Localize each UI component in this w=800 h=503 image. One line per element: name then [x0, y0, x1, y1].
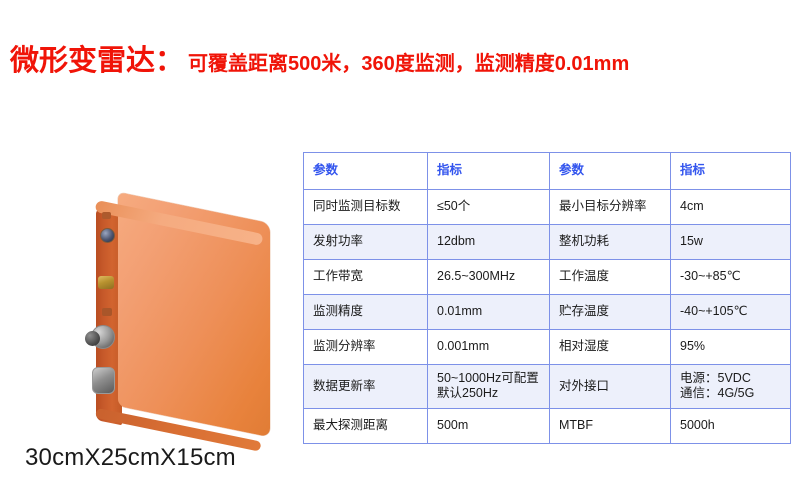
table-cell: 相对湿度: [550, 330, 671, 365]
table-header-row: 参数 指标 参数 指标: [304, 153, 791, 190]
device-mount-tab-top: [102, 212, 111, 219]
table-cell: -40~+105℃: [671, 295, 791, 330]
table-cell: 26.5~300MHz: [428, 260, 550, 295]
table-row: 发射功率12dbm整机功耗15w: [304, 225, 791, 260]
table-cell: 5000h: [671, 408, 791, 443]
table-cell: 电源：5VDC 通信：4G/5G: [671, 365, 791, 409]
comm-connector-icon: [92, 367, 115, 394]
gold-connector-icon: [98, 276, 114, 289]
spec-table-container: 参数 指标 参数 指标 同时监测目标数≤50个最小目标分辨率4cm发射功率12d…: [303, 152, 790, 444]
table-row: 最大探测距离500mMTBF5000h: [304, 408, 791, 443]
table-cell: 数据更新率: [304, 365, 428, 409]
dimension-caption: 30cmX25cmX15cm: [25, 444, 236, 472]
table-row: 监测精度0.01mm贮存温度-40~+105℃: [304, 295, 791, 330]
table-cell: 最大探测距离: [304, 408, 428, 443]
table-cell: 对外接口: [550, 365, 671, 409]
table-cell: ≤50个: [428, 190, 550, 225]
table-cell: 监测精度: [304, 295, 428, 330]
table-header-param-1: 参数: [304, 153, 428, 190]
table-cell: 500m: [428, 408, 550, 443]
table-cell: 95%: [671, 330, 791, 365]
table-header-value-2: 指标: [671, 153, 791, 190]
sma-connector-icon: [100, 228, 115, 243]
page-title-main: 微形变雷达：: [10, 47, 184, 76]
table-cell: 发射功率: [304, 225, 428, 260]
table-cell: -30~+85℃: [671, 260, 791, 295]
table-cell: 50~1000Hz可配置默认250Hz: [428, 365, 550, 409]
table-cell: 4cm: [671, 190, 791, 225]
table-row: 监测分辨率0.001mm相对湿度95%: [304, 330, 791, 365]
table-cell: 15w: [671, 225, 791, 260]
table-cell: 0.01mm: [428, 295, 550, 330]
table-cell: 最小目标分辨率: [550, 190, 671, 225]
table-cell: MTBF: [550, 408, 671, 443]
table-cell: 工作带宽: [304, 260, 428, 295]
table-row: 同时监测目标数≤50个最小目标分辨率4cm: [304, 190, 791, 225]
table-row: 工作带宽26.5~300MHz工作温度-30~+85℃: [304, 260, 791, 295]
table-cell: 0.001mm: [428, 330, 550, 365]
table-cell: 监测分辨率: [304, 330, 428, 365]
power-connector-cap-icon: [85, 331, 100, 346]
device-mount-tab-middle: [102, 308, 112, 316]
radar-device-illustration: [85, 190, 290, 435]
table-header-value-1: 指标: [428, 153, 550, 190]
table-cell: 工作温度: [550, 260, 671, 295]
table-cell: 整机功耗: [550, 225, 671, 260]
page-title-subtitle: 可覆盖距离500米，360度监测，监测精度0.01mm: [188, 54, 629, 74]
product-image: [85, 190, 290, 435]
table-cell: 贮存温度: [550, 295, 671, 330]
specification-table: 参数 指标 参数 指标 同时监测目标数≤50个最小目标分辨率4cm发射功率12d…: [303, 152, 791, 444]
specification-table-body: 同时监测目标数≤50个最小目标分辨率4cm发射功率12dbm整机功耗15w工作带…: [304, 190, 791, 444]
table-row: 数据更新率50~1000Hz可配置默认250Hz对外接口电源：5VDC 通信：4…: [304, 365, 791, 409]
table-header-param-2: 参数: [550, 153, 671, 190]
page-title: 微形变雷达： 可覆盖距离500米，360度监测，监测精度0.01mm: [10, 47, 629, 76]
table-cell: 同时监测目标数: [304, 190, 428, 225]
table-cell: 12dbm: [428, 225, 550, 260]
